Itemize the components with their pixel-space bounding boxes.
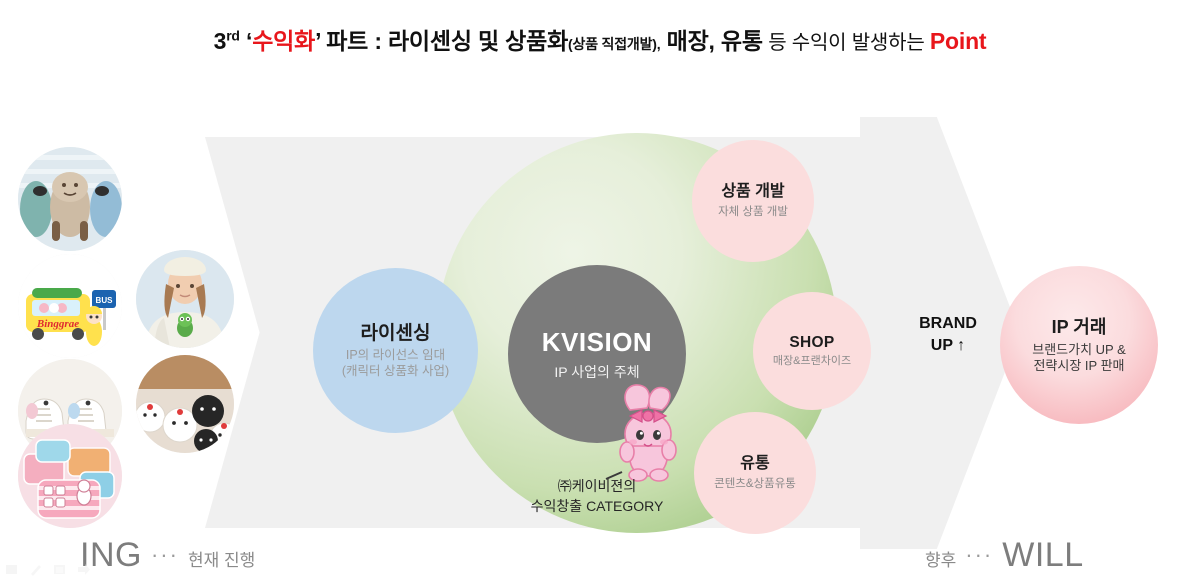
arrow-right-icon[interactable] <box>76 562 91 577</box>
green-circle-caption: ㈜케이비젼의 수익창출 CATEGORY <box>487 476 707 517</box>
bubble-product-development[interactable]: 상품 개발 자체 상품 개발 <box>692 140 814 262</box>
brand-up-line2: UP ↑ <box>896 335 1000 357</box>
slide-canvas: 3rd ‘수익화’ 파트 : 라이센싱 및 상품화(상품 직접개발), 매장, … <box>0 0 1200 585</box>
bubble-ip-trade[interactable]: IP 거래 브랜드가치 UP & 전략시장 IP 판매 <box>1000 266 1158 424</box>
mini-toolbar <box>4 562 91 577</box>
title-tail: 등 수익이 발생하는 <box>763 32 930 54</box>
core-title: KVISION <box>542 327 652 358</box>
bubble-ip-trade-heading: IP 거래 <box>1052 316 1107 339</box>
bubble-licensing-sub2: (캐릭터 상품화 사업) <box>342 364 449 380</box>
bubble-licensing-sub1: IP의 라이선스 임대 <box>346 348 445 364</box>
pink-rabbit-mascot <box>600 376 696 486</box>
pencil-icon[interactable] <box>28 562 43 577</box>
footer-right-ko: 향후 <box>925 546 956 571</box>
green-caption-line1: ㈜케이비젼의 <box>487 476 707 496</box>
svg-text:BUS: BUS <box>96 296 114 305</box>
character-pouches-photo <box>18 424 122 528</box>
green-caption-line2: 수익창출 CATEGORY <box>487 496 707 516</box>
title-point: Point <box>930 28 987 54</box>
title-paren: (상품 직접개발), <box>568 36 660 52</box>
square-icon[interactable] <box>4 562 19 577</box>
footer-left-dots: ··· <box>151 542 179 568</box>
bubble-shop[interactable]: SHOP 매장&프랜차이즈 <box>753 292 871 410</box>
title-part: 파트 : 라이센싱 및 상품화 <box>321 28 568 54</box>
brand-up-line1: BRAND <box>896 313 1000 335</box>
title-ordinal-suffix: rd <box>226 27 240 43</box>
footer-right: 향후 ··· WILL <box>925 536 1084 575</box>
footer-left: ING ··· 현재 진행 <box>80 536 255 575</box>
title-mid: 매장, 유통 <box>660 28 762 54</box>
bubble-product-development-heading: 상품 개발 <box>721 182 784 202</box>
bubble-licensing[interactable]: 라이센싱 IP의 라이선스 임대 (캐릭터 상품화 사업) <box>313 268 478 433</box>
bubble-distribution[interactable]: 유통 콘텐츠&상품유통 <box>694 412 816 534</box>
bubble-licensing-heading: 라이센싱 <box>361 322 431 346</box>
footer-right-dots: ··· <box>965 542 993 568</box>
bubble-ip-trade-sub2: 전략시장 IP 판매 <box>1033 358 1124 374</box>
bubble-distribution-heading: 유통 <box>740 454 769 474</box>
bubble-product-development-sub1: 자체 상품 개발 <box>718 205 788 219</box>
plush-dolls-photo <box>18 147 122 251</box>
brand-up-label: BRAND UP ↑ <box>896 313 1000 356</box>
title-ordinal: 3 <box>214 28 227 54</box>
character-plush-set-photo <box>136 355 234 453</box>
footer-right-big: WILL <box>1002 536 1083 575</box>
footer-left-ko: 현재 진행 <box>188 546 255 571</box>
bubble-ip-trade-sub1: 브랜드가치 UP & <box>1032 342 1126 358</box>
binggrae-bus-photo: Binggrae BUS <box>18 254 122 358</box>
title-highlight: 수익화 <box>252 28 315 54</box>
page-title: 3rd ‘수익화’ 파트 : 라이센싱 및 상품화(상품 직접개발), 매장, … <box>0 22 1200 56</box>
svg-text:Binggrae: Binggrae <box>36 318 79 330</box>
kids-character-tee-photo <box>136 250 234 348</box>
bubble-distribution-sub1: 콘텐츠&상품유통 <box>714 477 796 491</box>
lines-icon[interactable] <box>52 562 67 577</box>
bubble-shop-heading: SHOP <box>789 333 834 352</box>
bubble-shop-sub1: 매장&프랜차이즈 <box>773 355 851 369</box>
